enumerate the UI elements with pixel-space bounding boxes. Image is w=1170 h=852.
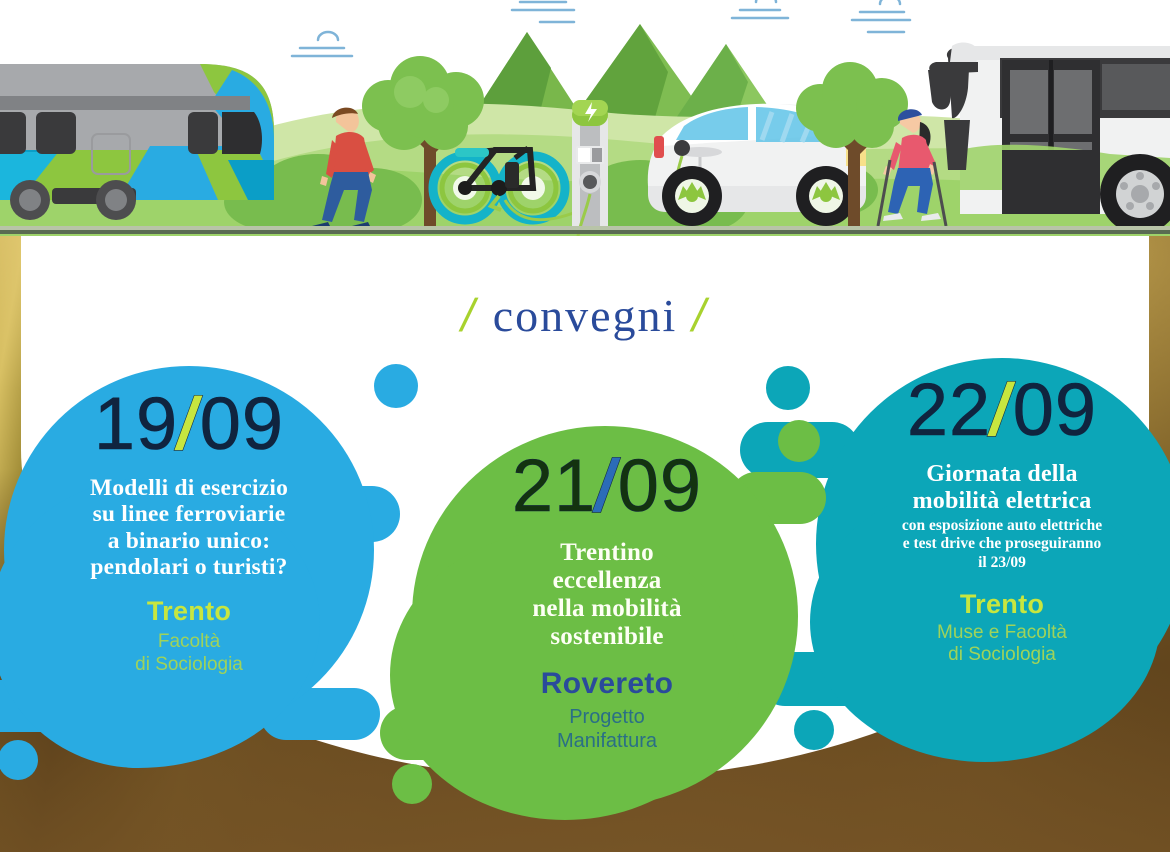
- event-subtitle-line: il 23/09: [826, 554, 1170, 573]
- event-venue: Progetto Manifattura: [422, 705, 792, 753]
- event-card-19-09[interactable]: 19/09 Modelli di esercizio su linee ferr…: [0, 358, 410, 768]
- event-venue-line: Progetto: [422, 705, 792, 729]
- event-card-22-09[interactable]: 22/09 Giornata della mobilità elettrica …: [800, 352, 1170, 772]
- event-subtitle-line: e test drive che proseguiranno: [826, 535, 1170, 554]
- event-title-line: a binario unico:: [4, 528, 374, 554]
- event-date: 22/09: [826, 374, 1170, 445]
- event-title: Giornata della mobilità elettrica: [826, 461, 1170, 515]
- event-date-day: 19: [94, 382, 178, 465]
- event-title: Trentino eccellenza nella mobilità soste…: [422, 539, 792, 651]
- event-venue-line: di Sociologia: [826, 644, 1170, 667]
- regional-train-icon: [0, 64, 274, 220]
- city-bus-icon: [928, 43, 1170, 234]
- blob-dot: [766, 366, 810, 410]
- event-title-line: Giornata della: [826, 461, 1170, 488]
- event-title-line: mobilità elettrica: [826, 488, 1170, 515]
- event-city: Trento: [4, 596, 374, 627]
- mobility-illustration: [0, 0, 1170, 236]
- event-title-line: sostenibile: [422, 623, 792, 651]
- event-subtitle: con esposizione auto elettriche e test d…: [826, 517, 1170, 573]
- event-card-21-09[interactable]: 21/09 Trentino eccellenza nella mobilità…: [380, 420, 830, 820]
- event-title-line: pendolari o turisti?: [4, 554, 374, 580]
- charging-station-icon: [572, 100, 608, 236]
- event-date-day: 21: [512, 444, 596, 527]
- event-venue: Muse e Facoltà di Sociologia: [826, 622, 1170, 668]
- event-content: 22/09 Giornata della mobilità elettrica …: [826, 374, 1170, 667]
- event-venue-line: Muse e Facoltà: [826, 622, 1170, 645]
- event-date-month: 09: [1013, 368, 1097, 451]
- event-title-line: Modelli di esercizio: [4, 475, 374, 501]
- event-title-line: su linee ferroviarie: [4, 501, 374, 527]
- blob-dot: [374, 364, 418, 408]
- event-date-month: 09: [200, 382, 284, 465]
- blob-dot: [392, 764, 432, 804]
- page-title: /convegni/: [0, 288, 1170, 342]
- event-title-line: nella mobilità: [422, 595, 792, 623]
- event-content: 19/09 Modelli di esercizio su linee ferr…: [4, 388, 374, 677]
- event-date: 19/09: [4, 388, 374, 459]
- event-subtitle-line: con esposizione auto elettriche: [826, 517, 1170, 536]
- event-venue-line: di Sociologia: [4, 654, 374, 677]
- event-date-month: 09: [618, 444, 702, 527]
- event-venue-line: Manifattura: [422, 729, 792, 753]
- event-venue-line: Facoltà: [4, 631, 374, 654]
- title-word: convegni: [483, 289, 688, 342]
- event-title: Modelli di esercizio su linee ferroviari…: [4, 475, 374, 580]
- event-city: Rovereto: [422, 667, 792, 701]
- event-title-line: eccellenza: [422, 567, 792, 595]
- event-content: 21/09 Trentino eccellenza nella mobilità…: [422, 450, 792, 753]
- event-date: 21/09: [422, 450, 792, 521]
- event-date-day: 22: [907, 368, 991, 451]
- event-title-line: Trentino: [422, 539, 792, 567]
- event-venue: Facoltà di Sociologia: [4, 631, 374, 677]
- event-city: Trento: [826, 589, 1170, 620]
